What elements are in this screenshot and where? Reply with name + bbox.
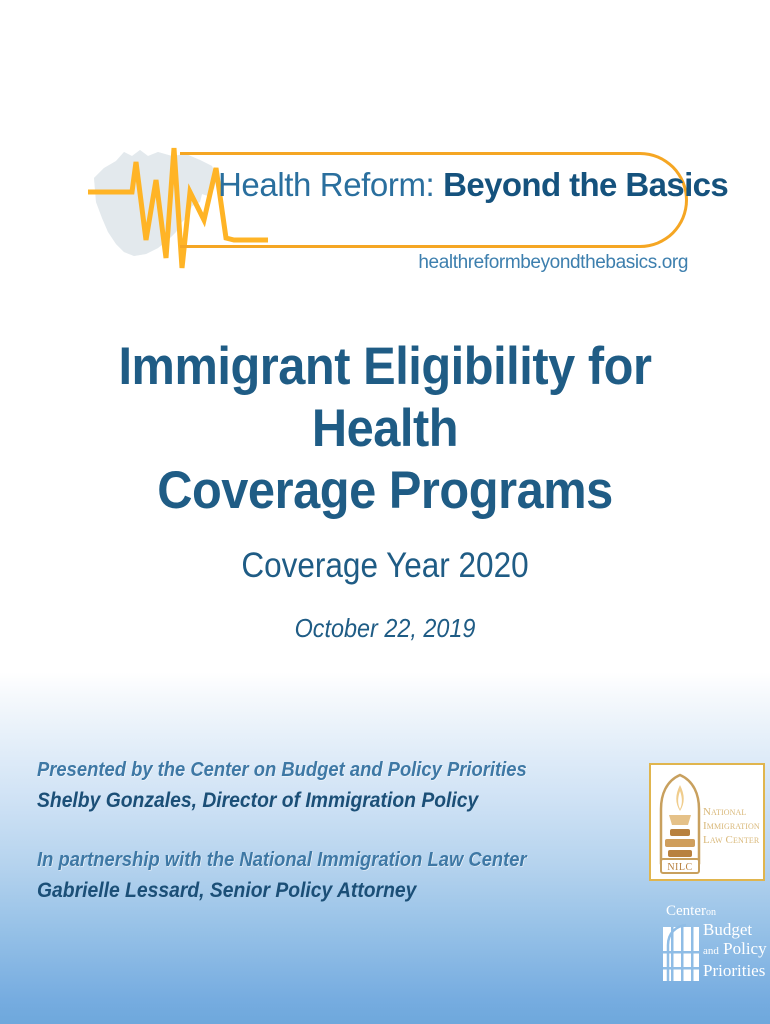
nilc-lamp-flame-icon: NILC [657, 771, 703, 875]
national-immigration-law-center-logo: NILC National Immigration Law Center [649, 763, 765, 881]
brand-website-url[interactable]: healthreformbeyondthebasics.org [406, 252, 688, 274]
presenter-name-title: Shelby Gonzales, Director of Immigration… [37, 785, 589, 817]
cbpp-wordmark-top: Centeron [666, 903, 716, 921]
brand-logo: Health Reform: Beyond the Basics healthr… [88, 140, 688, 290]
brand-wordmark-heavy: Beyond the Basics [443, 166, 728, 203]
nilc-wordmark-line-3: Law Center [703, 833, 765, 847]
nilc-wordmark-line-2: Immigration [703, 819, 765, 833]
cbpp-word-and: and [703, 945, 719, 957]
partner-organization: In partnership with the National Immigra… [37, 845, 589, 875]
presenter-spacer [37, 817, 637, 845]
cbpp-arch-window-icon [662, 921, 702, 983]
nilc-wordmark: National Immigration Law Center [703, 805, 765, 847]
presentation-title-slide: Health Reform: Beyond the Basics healthr… [0, 0, 770, 1024]
brand-wordmark: Health Reform: Beyond the Basics [218, 166, 668, 204]
page-title: Immigrant Eligibility for Health Coverag… [68, 336, 703, 522]
svg-text:NILC: NILC [667, 862, 692, 873]
cbpp-wordmark: Budget and Policy Priorities [703, 920, 769, 980]
presenter-block: Presented by the Center on Budget and Po… [37, 755, 637, 907]
partner-presenter-name-title: Gabrielle Lessard, Senior Policy Attorne… [37, 875, 589, 907]
presenting-organization: Presented by the Center on Budget and Po… [37, 755, 589, 785]
center-on-budget-and-policy-priorities-logo: Centeron Budget and Policy Priorities [662, 903, 766, 1001]
page-subtitle: Coverage Year 2020 [75, 545, 696, 587]
cbpp-word-and-policy: and Policy [703, 939, 769, 961]
cbpp-word-budget: Budget [703, 920, 769, 939]
cbpp-word-priorities: Priorities [703, 961, 769, 980]
page-title-line-2: Coverage Programs [68, 460, 703, 522]
cbpp-word-center: Center [666, 903, 706, 919]
brand-wordmark-light: Health Reform: [218, 166, 434, 203]
presentation-date: October 22, 2019 [75, 612, 696, 644]
cbpp-word-on: on [706, 907, 716, 918]
cbpp-word-policy: Policy [723, 939, 766, 958]
page-title-line-1: Immigrant Eligibility for Health [68, 336, 703, 460]
nilc-wordmark-line-1: National [703, 805, 765, 819]
